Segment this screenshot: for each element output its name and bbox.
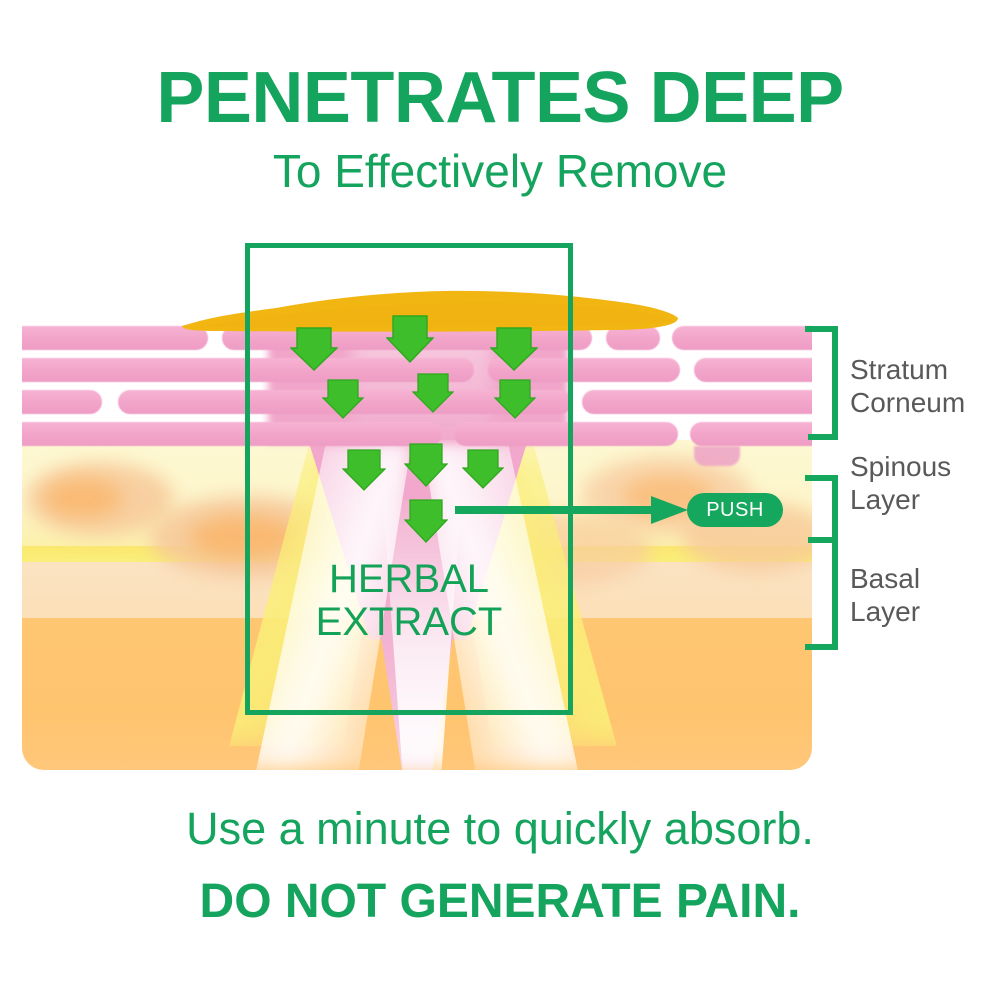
herbal-extract-label-line2: EXTRACT — [245, 601, 573, 644]
layer-bracket-icon — [805, 320, 845, 660]
layer-label-line: Layer — [850, 595, 920, 628]
footer-text-primary: Use a minute to quickly absorb. — [0, 806, 1000, 851]
layer-label-basal-layer: Basal Layer — [850, 562, 920, 628]
infographic-canvas: PENETRATES DEEP To Effectively Remove — [0, 0, 1000, 1000]
herbal-extract-label-line1: HERBAL — [245, 558, 573, 601]
right-arrow-icon — [455, 492, 690, 528]
corneum-cell — [672, 326, 812, 350]
page-subtitle: To Effectively Remove — [0, 148, 1000, 194]
footer-text-emphasis: DO NOT GENERATE PAIN. — [0, 878, 1000, 926]
corneum-loose-fragment — [694, 446, 740, 466]
herbal-extract-label: HERBAL EXTRACT — [245, 558, 573, 644]
layer-label-line: Corneum — [850, 386, 965, 419]
herbal-extract-focus-box — [245, 243, 573, 715]
push-button[interactable]: PUSH — [687, 493, 783, 527]
page-title: PENETRATES DEEP — [0, 62, 1000, 134]
corneum-cell — [582, 390, 812, 414]
layer-label-spinous-layer: Spinous Layer — [850, 450, 951, 516]
layer-label-line: Stratum — [850, 353, 965, 386]
corneum-cell — [694, 358, 812, 382]
layer-label-line: Layer — [850, 483, 951, 516]
corneum-cell — [690, 422, 812, 446]
layer-label-line: Basal — [850, 562, 920, 595]
layer-label-line: Spinous — [850, 450, 951, 483]
corneum-cell — [22, 390, 102, 414]
dermis-blob — [44, 478, 122, 518]
layer-label-stratum-corneum: Stratum Corneum — [850, 353, 965, 419]
